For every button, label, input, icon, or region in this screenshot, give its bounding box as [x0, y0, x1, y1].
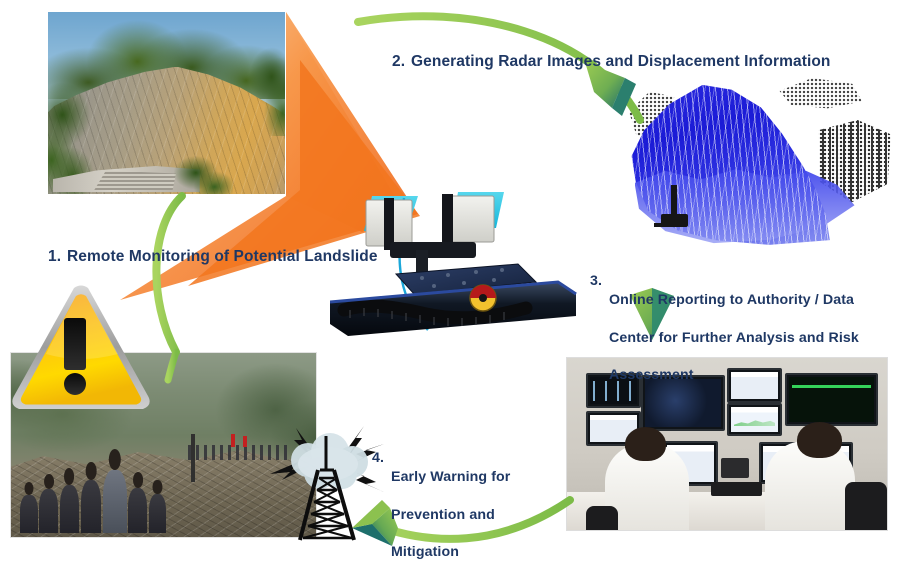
step-3-number: 3.	[590, 272, 609, 385]
step-2-label: Generating Radar Images and Displacement…	[411, 52, 831, 73]
chair-right	[845, 482, 887, 530]
slope-photo	[48, 12, 285, 194]
instrument-foot	[654, 223, 664, 227]
step-4-line-1: Early Warning for	[391, 469, 510, 485]
step-3-line-2: Center for Further Analysis and Risk	[609, 330, 859, 346]
step-4-line-2: Prevention and	[391, 507, 495, 523]
operator-right-head	[797, 422, 842, 458]
step-1-number: 1.	[48, 247, 67, 268]
step-3-line-3: Assessment	[609, 367, 694, 383]
diagram-canvas: 1. Remote Monitoring of Potential Landsl…	[0, 0, 900, 563]
desk-phone	[721, 458, 750, 479]
step-4-caption: 4. Early Warning for Prevention and Miti…	[372, 430, 532, 581]
wall-monitor-5	[727, 403, 782, 436]
step-4-label: Early Warning for Prevention and Mitigat…	[391, 449, 532, 562]
radar-displacement-image	[612, 78, 894, 250]
step-3-label: Online Reporting to Authority / Data Cen…	[609, 272, 890, 385]
desk-box	[711, 482, 762, 496]
broadcast-tower-icon	[268, 418, 386, 543]
instrument-base	[661, 214, 687, 227]
operator-left-head	[625, 427, 667, 461]
marker-flag-1	[231, 434, 236, 447]
step-2-number: 2.	[392, 52, 411, 73]
step-4-line-3: Mitigation	[391, 544, 459, 560]
step-3-line-1: Online Reporting to Authority / Data	[609, 292, 854, 308]
step-3-caption: 3. Online Reporting to Authority / Data …	[590, 253, 890, 404]
marker-flag-2	[243, 436, 247, 447]
warning-triangle-icon	[8, 280, 154, 416]
mount-frame	[390, 242, 476, 258]
radar-instrument-icon	[651, 185, 696, 233]
exclamation-dot	[64, 373, 86, 395]
step-1-caption: 1. Remote Monitoring of Potential Landsl…	[48, 226, 378, 288]
step-2-caption: 2. Generating Radar Images and Displacem…	[392, 31, 831, 93]
exclamation-bar	[64, 318, 86, 370]
foreground-tree	[171, 154, 233, 194]
antenna-panel-right	[442, 194, 494, 248]
crowd-group	[17, 460, 176, 534]
rotary-label	[470, 285, 496, 311]
chair-left	[586, 506, 618, 530]
step-1-label: Remote Monitoring of Potential Landslide	[67, 247, 378, 268]
right-trees	[238, 45, 285, 136]
utility-pole	[191, 434, 195, 482]
